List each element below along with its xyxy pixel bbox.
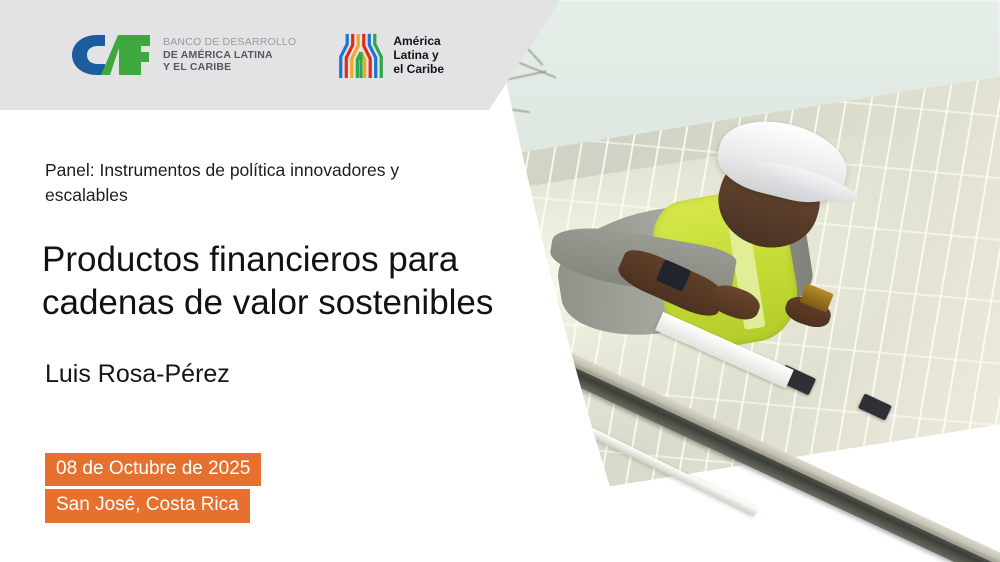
america-latina-logomark-icon: [338, 32, 384, 78]
location-badge: San José, Costa Rica: [45, 489, 250, 522]
panel-eyebrow-text: Panel: Instrumentos de política innovado…: [45, 158, 485, 208]
america-latina-wordmark: América Latina y el Caribe: [393, 34, 444, 76]
speaker-name: Luis Rosa-Pérez: [45, 360, 230, 389]
caf-logomark-icon: [70, 33, 152, 77]
caf-line-3: Y EL CARIBE: [163, 61, 296, 74]
al-line-2: Latina y: [393, 48, 444, 62]
al-line-1: América: [393, 34, 444, 48]
caf-logo: BANCO DE DESARROLLO DE AMÉRICA LATINA Y …: [70, 33, 296, 77]
caf-wordmark: BANCO DE DESARROLLO DE AMÉRICA LATINA Y …: [163, 36, 296, 74]
date-badge: 08 de Octubre de 2025: [45, 453, 261, 486]
technician-figure: [550, 118, 970, 410]
event-details: 08 de Octubre de 2025 San José, Costa Ri…: [45, 453, 261, 523]
caf-line-1: BANCO DE DESARROLLO: [163, 36, 296, 49]
al-line-3: el Caribe: [393, 62, 444, 76]
caf-line-2: DE AMÉRICA LATINA: [163, 49, 296, 62]
slide-title-line-2: cadenas de valor sostenibles: [42, 281, 542, 324]
slide-title: Productos financieros para cadenas de va…: [42, 238, 542, 325]
america-latina-y-el-caribe-logo: América Latina y el Caribe: [338, 32, 444, 78]
logo-row: BANCO DE DESARROLLO DE AMÉRICA LATINA Y …: [0, 0, 470, 110]
slide-title-line-1: Productos financieros para: [42, 238, 542, 281]
presentation-slide: BANCO DE DESARROLLO DE AMÉRICA LATINA Y …: [0, 0, 1000, 562]
